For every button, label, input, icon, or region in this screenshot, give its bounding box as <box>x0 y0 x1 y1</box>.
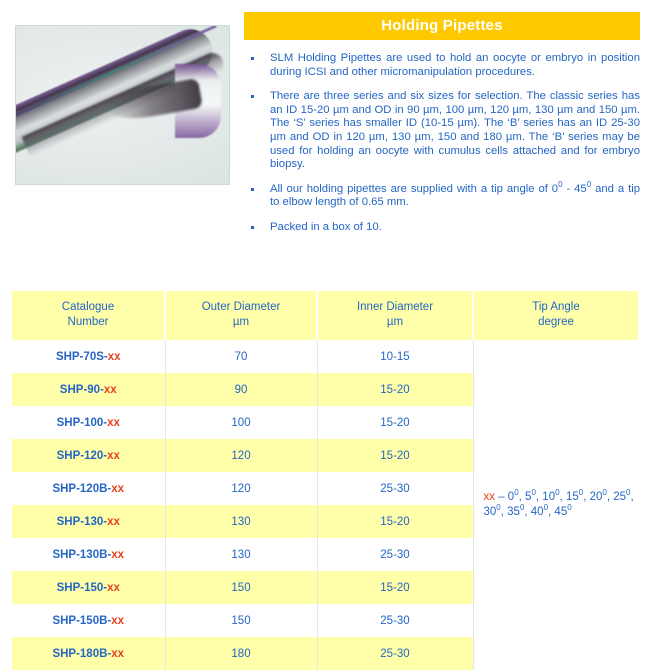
tip-angle-value: 30 <box>484 506 497 518</box>
intro-section: Holding Pipettes SLM Holding Pipettes ar… <box>232 0 650 246</box>
cell-outer-diameter: 130 <box>165 505 317 538</box>
column-header-catalogue-number: Catalogue Number <box>12 291 165 340</box>
header-line1: Catalogue <box>62 301 114 313</box>
specification-table: Catalogue Number Outer Diameter µm Inner… <box>12 291 638 670</box>
table-header: Catalogue Number Outer Diameter µm Inner… <box>12 291 638 340</box>
tip-angle-value: 25 <box>613 491 626 503</box>
catalogue-number-text: SHP-180B- <box>52 648 111 660</box>
catalogue-number-text: SHP-90- <box>60 384 104 396</box>
cell-outer-diameter: 100 <box>165 406 317 439</box>
column-header-inner-diameter: Inner Diameter µm <box>317 291 473 340</box>
cell-catalogue-number: SHP-150-xx <box>12 571 165 604</box>
catalogue-number-text: SHP-130B- <box>52 549 111 561</box>
cell-catalogue-number: SHP-130B-xx <box>12 538 165 571</box>
column-header-tip-angle: Tip Angle degree <box>473 291 638 340</box>
cell-catalogue-number: SHP-100-xx <box>12 406 165 439</box>
header-line1: Tip Angle <box>532 301 580 313</box>
tip-angle-text-part2: - 45 <box>563 183 587 195</box>
cell-catalogue-number: SHP-120-xx <box>12 439 165 472</box>
cell-inner-diameter: 10-15 <box>317 340 473 373</box>
catalogue-number-text: SHP-150B- <box>52 615 111 627</box>
page-title-banner: Holding Pipettes <box>244 12 640 40</box>
top-section: Holding Pipettes SLM Holding Pipettes ar… <box>0 0 650 246</box>
tip-angle-value: 20 <box>590 491 603 503</box>
degree-symbol: 0 <box>567 503 571 512</box>
header-line1: Outer Diameter <box>202 301 281 313</box>
cell-inner-diameter: 15-20 <box>317 505 473 538</box>
cell-inner-diameter: 15-20 <box>317 373 473 406</box>
tip-angle-dash: – <box>495 491 508 503</box>
tip-angle-value: 35 <box>507 506 520 518</box>
cell-inner-diameter: 15-20 <box>317 406 473 439</box>
header-line2: µm <box>387 316 403 328</box>
catalogue-number-text: SHP-150- <box>57 582 108 594</box>
catalogue-number-suffix: xx <box>107 417 120 429</box>
table-row: SHP-70S-xx7010-15xx – 00, 50, 100, 150, … <box>12 340 638 373</box>
bullet-item-tip-angle: All our holding pipettes are supplied wi… <box>244 183 640 210</box>
product-page: Holding Pipettes SLM Holding Pipettes ar… <box>0 0 650 618</box>
cell-outer-diameter: 150 <box>165 604 317 637</box>
catalogue-number-suffix: xx <box>111 615 124 627</box>
header-line2: µm <box>233 316 249 328</box>
catalogue-number-suffix: xx <box>111 483 124 495</box>
cell-inner-diameter: 25-30 <box>317 604 473 637</box>
catalogue-number-suffix: xx <box>107 582 120 594</box>
cell-outer-diameter: 180 <box>165 637 317 670</box>
tip-angle-value: 15 <box>566 491 579 503</box>
cell-catalogue-number: SHP-90-xx <box>12 373 165 406</box>
catalogue-number-suffix: xx <box>107 450 120 462</box>
tip-angle-options-text: xx – 00, 50, 100, 150, 200, 250, 300, 35… <box>484 491 634 518</box>
cell-catalogue-number: SHP-130-xx <box>12 505 165 538</box>
cell-inner-diameter: 25-30 <box>317 538 473 571</box>
cell-catalogue-number: SHP-150B-xx <box>12 604 165 637</box>
catalogue-number-suffix: xx <box>111 549 124 561</box>
catalogue-number-text: SHP-120B- <box>52 483 111 495</box>
catalogue-number-text: SHP-70S- <box>56 351 108 363</box>
bullet-item-packaging: Packed in a box of 10. <box>244 221 640 235</box>
holding-pipette-photo <box>15 25 230 185</box>
bullet-item-description: SLM Holding Pipettes are used to hold an… <box>244 52 640 79</box>
catalogue-number-suffix: xx <box>108 351 121 363</box>
cell-catalogue-number: SHP-70S-xx <box>12 340 165 373</box>
cell-outer-diameter: 130 <box>165 538 317 571</box>
cell-inner-diameter: 25-30 <box>317 637 473 670</box>
bullet-item-series-sizes: There are three series and six sizes for… <box>244 90 640 172</box>
product-photo-container <box>0 0 232 185</box>
catalogue-number-text: SHP-100- <box>57 417 108 429</box>
tip-angle-value: 45 <box>554 506 567 518</box>
cell-inner-diameter: 15-20 <box>317 439 473 472</box>
cell-outer-diameter: 90 <box>165 373 317 406</box>
header-line1: Inner Diameter <box>357 301 433 313</box>
catalogue-number-suffix: xx <box>107 516 120 528</box>
tip-angle-text-part1: All our holding pipettes are supplied wi… <box>270 183 558 195</box>
cell-inner-diameter: 25-30 <box>317 472 473 505</box>
cell-inner-diameter: 15-20 <box>317 571 473 604</box>
table-header-row: Catalogue Number Outer Diameter µm Inner… <box>12 291 638 340</box>
tip-angle-xx-label: xx <box>484 491 496 503</box>
tip-angle-separator: , <box>630 491 633 503</box>
specification-table-container: Catalogue Number Outer Diameter µm Inner… <box>12 291 638 670</box>
feature-bullet-list: SLM Holding Pipettes are used to hold an… <box>244 52 640 235</box>
cell-tip-angle-options: xx – 00, 50, 100, 150, 200, 250, 300, 35… <box>473 340 638 670</box>
catalogue-number-text: SHP-120- <box>57 450 108 462</box>
tip-angle-value: 10 <box>542 491 555 503</box>
table-body: SHP-70S-xx7010-15xx – 00, 50, 100, 150, … <box>12 340 638 670</box>
catalogue-number-suffix: xx <box>104 384 117 396</box>
cell-catalogue-number: SHP-120B-xx <box>12 472 165 505</box>
tip-angle-value: 40 <box>531 506 544 518</box>
cell-outer-diameter: 150 <box>165 571 317 604</box>
catalogue-number-text: SHP-130- <box>57 516 108 528</box>
header-line2: degree <box>538 316 574 328</box>
catalogue-number-suffix: xx <box>111 648 124 660</box>
column-header-outer-diameter: Outer Diameter µm <box>165 291 317 340</box>
cell-outer-diameter: 70 <box>165 340 317 373</box>
cell-outer-diameter: 120 <box>165 472 317 505</box>
cell-catalogue-number: SHP-180B-xx <box>12 637 165 670</box>
header-line2: Number <box>68 316 109 328</box>
cell-outer-diameter: 120 <box>165 439 317 472</box>
